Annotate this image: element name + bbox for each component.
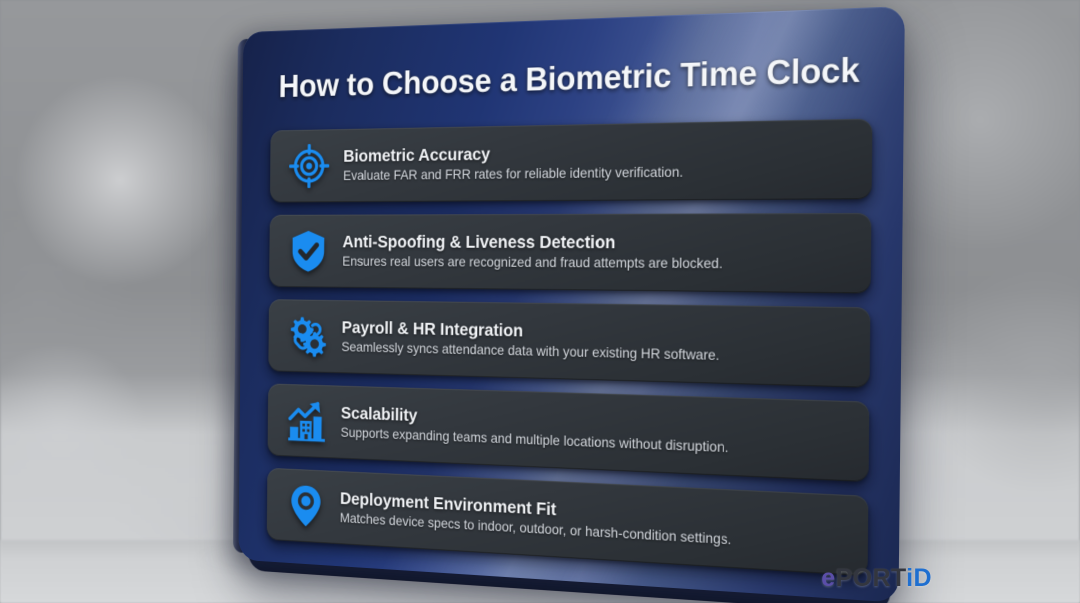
gears-link-icon [280,306,334,366]
card-text: Payroll & HR Integration Seamlessly sync… [334,317,719,365]
target-icon [282,136,336,196]
shield-check-icon [281,221,335,281]
infographic-panel: How to Choose a Biometric Time Clock [238,6,904,603]
card-text: Anti-Spoofing & Liveness Detection Ensur… [335,232,723,274]
card-title: Biometric Accuracy [343,141,683,168]
card-description: Seamlessly syncs attendance data with yo… [341,338,719,365]
page-title: How to Choose a Biometric Time Clock [279,50,875,105]
eportid-logo: ePORTiD [821,564,932,593]
feature-card-deployment-environment-fit[interactable]: Deployment Environment Fit Matches devic… [267,468,869,577]
logo-part-port: PORT [836,564,907,592]
logo-part-i: i [906,564,913,592]
card-title: Anti-Spoofing & Liveness Detection [342,232,723,255]
feature-card-anti-spoofing[interactable]: Anti-Spoofing & Liveness Detection Ensur… [269,213,871,294]
card-description: Ensures real users are recognized and fr… [342,253,723,274]
card-text: Biometric Accuracy Evaluate FAR and FRR … [336,141,684,185]
scene-stage: How to Choose a Biometric Time Clock [0,0,1080,603]
card-text: Deployment Environment Fit Matches devic… [333,488,732,550]
feature-card-payroll-hr-integration[interactable]: Payroll & HR Integration Seamlessly sync… [268,299,870,388]
growth-chart-building-icon [280,390,334,451]
feature-card-scalability[interactable]: Scalability Supports expanding teams and… [268,383,870,482]
logo-part-d: D [914,564,932,592]
map-pin-icon [279,475,333,537]
feature-card-list: Biometric Accuracy Evaluate FAR and FRR … [267,119,873,577]
feature-card-biometric-accuracy[interactable]: Biometric Accuracy Evaluate FAR and FRR … [270,119,872,203]
logo-part-e: e [821,564,835,592]
card-text: Scalability Supports expanding teams and… [334,403,729,458]
card-description: Evaluate FAR and FRR rates for reliable … [343,163,683,185]
